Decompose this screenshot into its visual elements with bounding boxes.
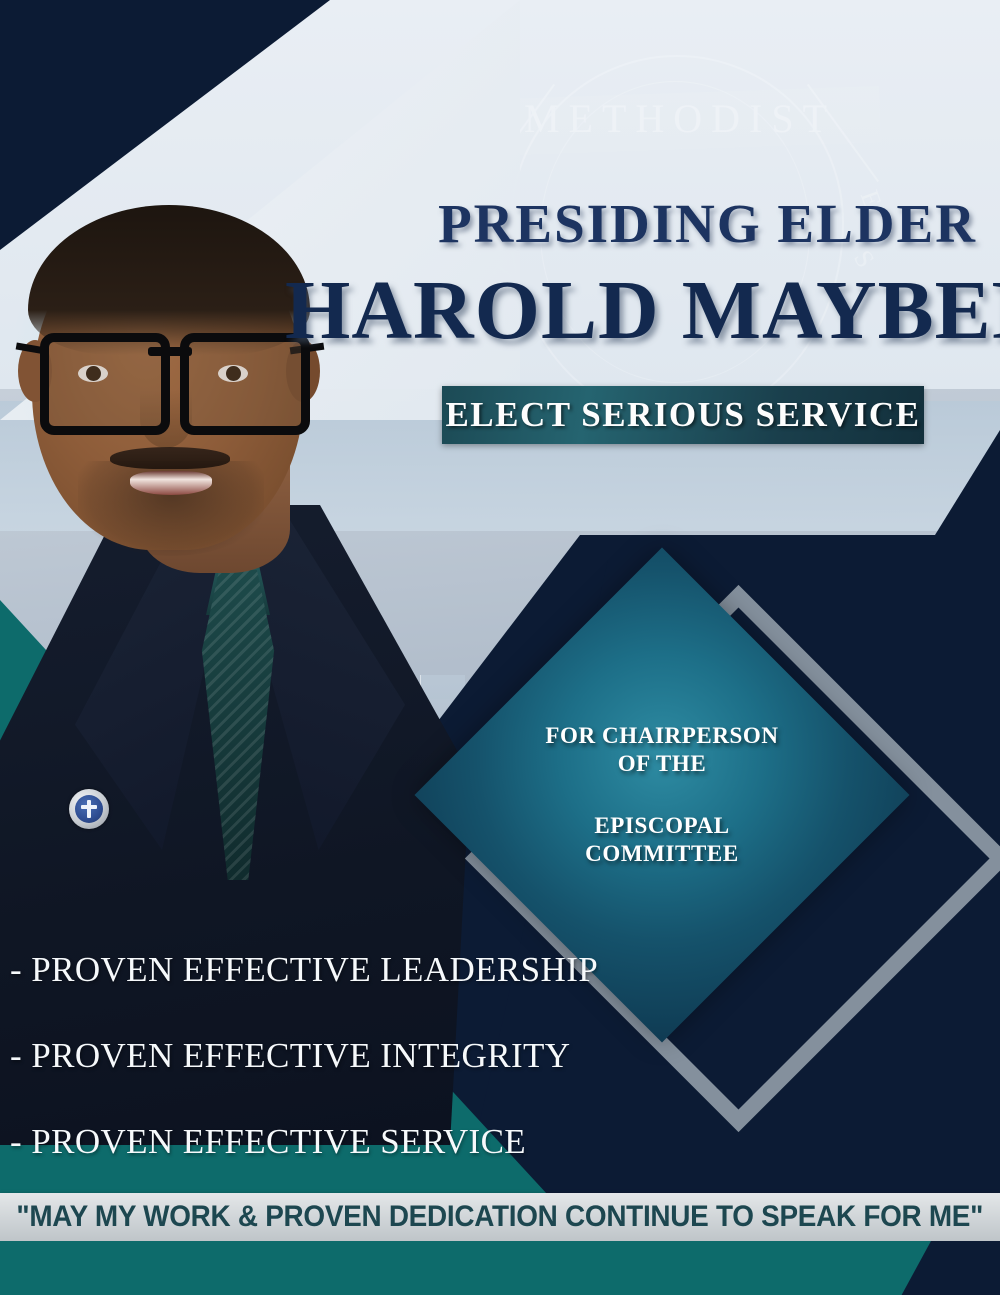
- footer-strip: [0, 1241, 1000, 1295]
- page-title-presiding-elder: PRESIDING ELDER: [435, 192, 980, 255]
- methodist-cross-pin-icon: [69, 789, 109, 829]
- footer-teal-wedge: [0, 1241, 980, 1295]
- seal-word-methodist: METHODIST: [470, 95, 890, 142]
- position-line-1: FOR CHAIRPERSON: [545, 723, 778, 748]
- quote-text: "MAY MY WORK & PROVEN DEDICATION CONTINU…: [17, 1200, 984, 1234]
- quote-banner: "MAY MY WORK & PROVEN DEDICATION CONTINU…: [0, 1193, 1000, 1241]
- glasses-bridge: [148, 347, 192, 356]
- list-item: - PROVEN EFFECTIVE SERVICE: [10, 1122, 630, 1162]
- mustache: [110, 447, 230, 469]
- qualifications-list: - PROVEN EFFECTIVE LEADERSHIP - PROVEN E…: [10, 950, 630, 1208]
- slogan-banner: ELECT SERIOUS SERVICE: [442, 386, 924, 444]
- list-item: - PROVEN EFFECTIVE INTEGRITY: [10, 1036, 630, 1076]
- slogan-text: ELECT SERIOUS SERVICE: [445, 395, 920, 435]
- position-statement: FOR CHAIRPERSON OF THE EPISCOPAL COMMITT…: [487, 620, 837, 970]
- position-line-2: OF THE: [618, 751, 707, 776]
- list-item: - PROVEN EFFECTIVE LEADERSHIP: [10, 950, 630, 990]
- eyeglasses-icon: [38, 333, 300, 419]
- position-line-4: COMMITTEE: [585, 841, 739, 866]
- position-line-3: EPISCOPAL: [594, 813, 729, 838]
- cross-icon: [87, 800, 91, 818]
- mouth: [130, 471, 212, 495]
- campaign-poster: METHODIST R T E S O: [0, 0, 1000, 1295]
- candidate-name: HAROLD MAYBERRY: [285, 262, 995, 359]
